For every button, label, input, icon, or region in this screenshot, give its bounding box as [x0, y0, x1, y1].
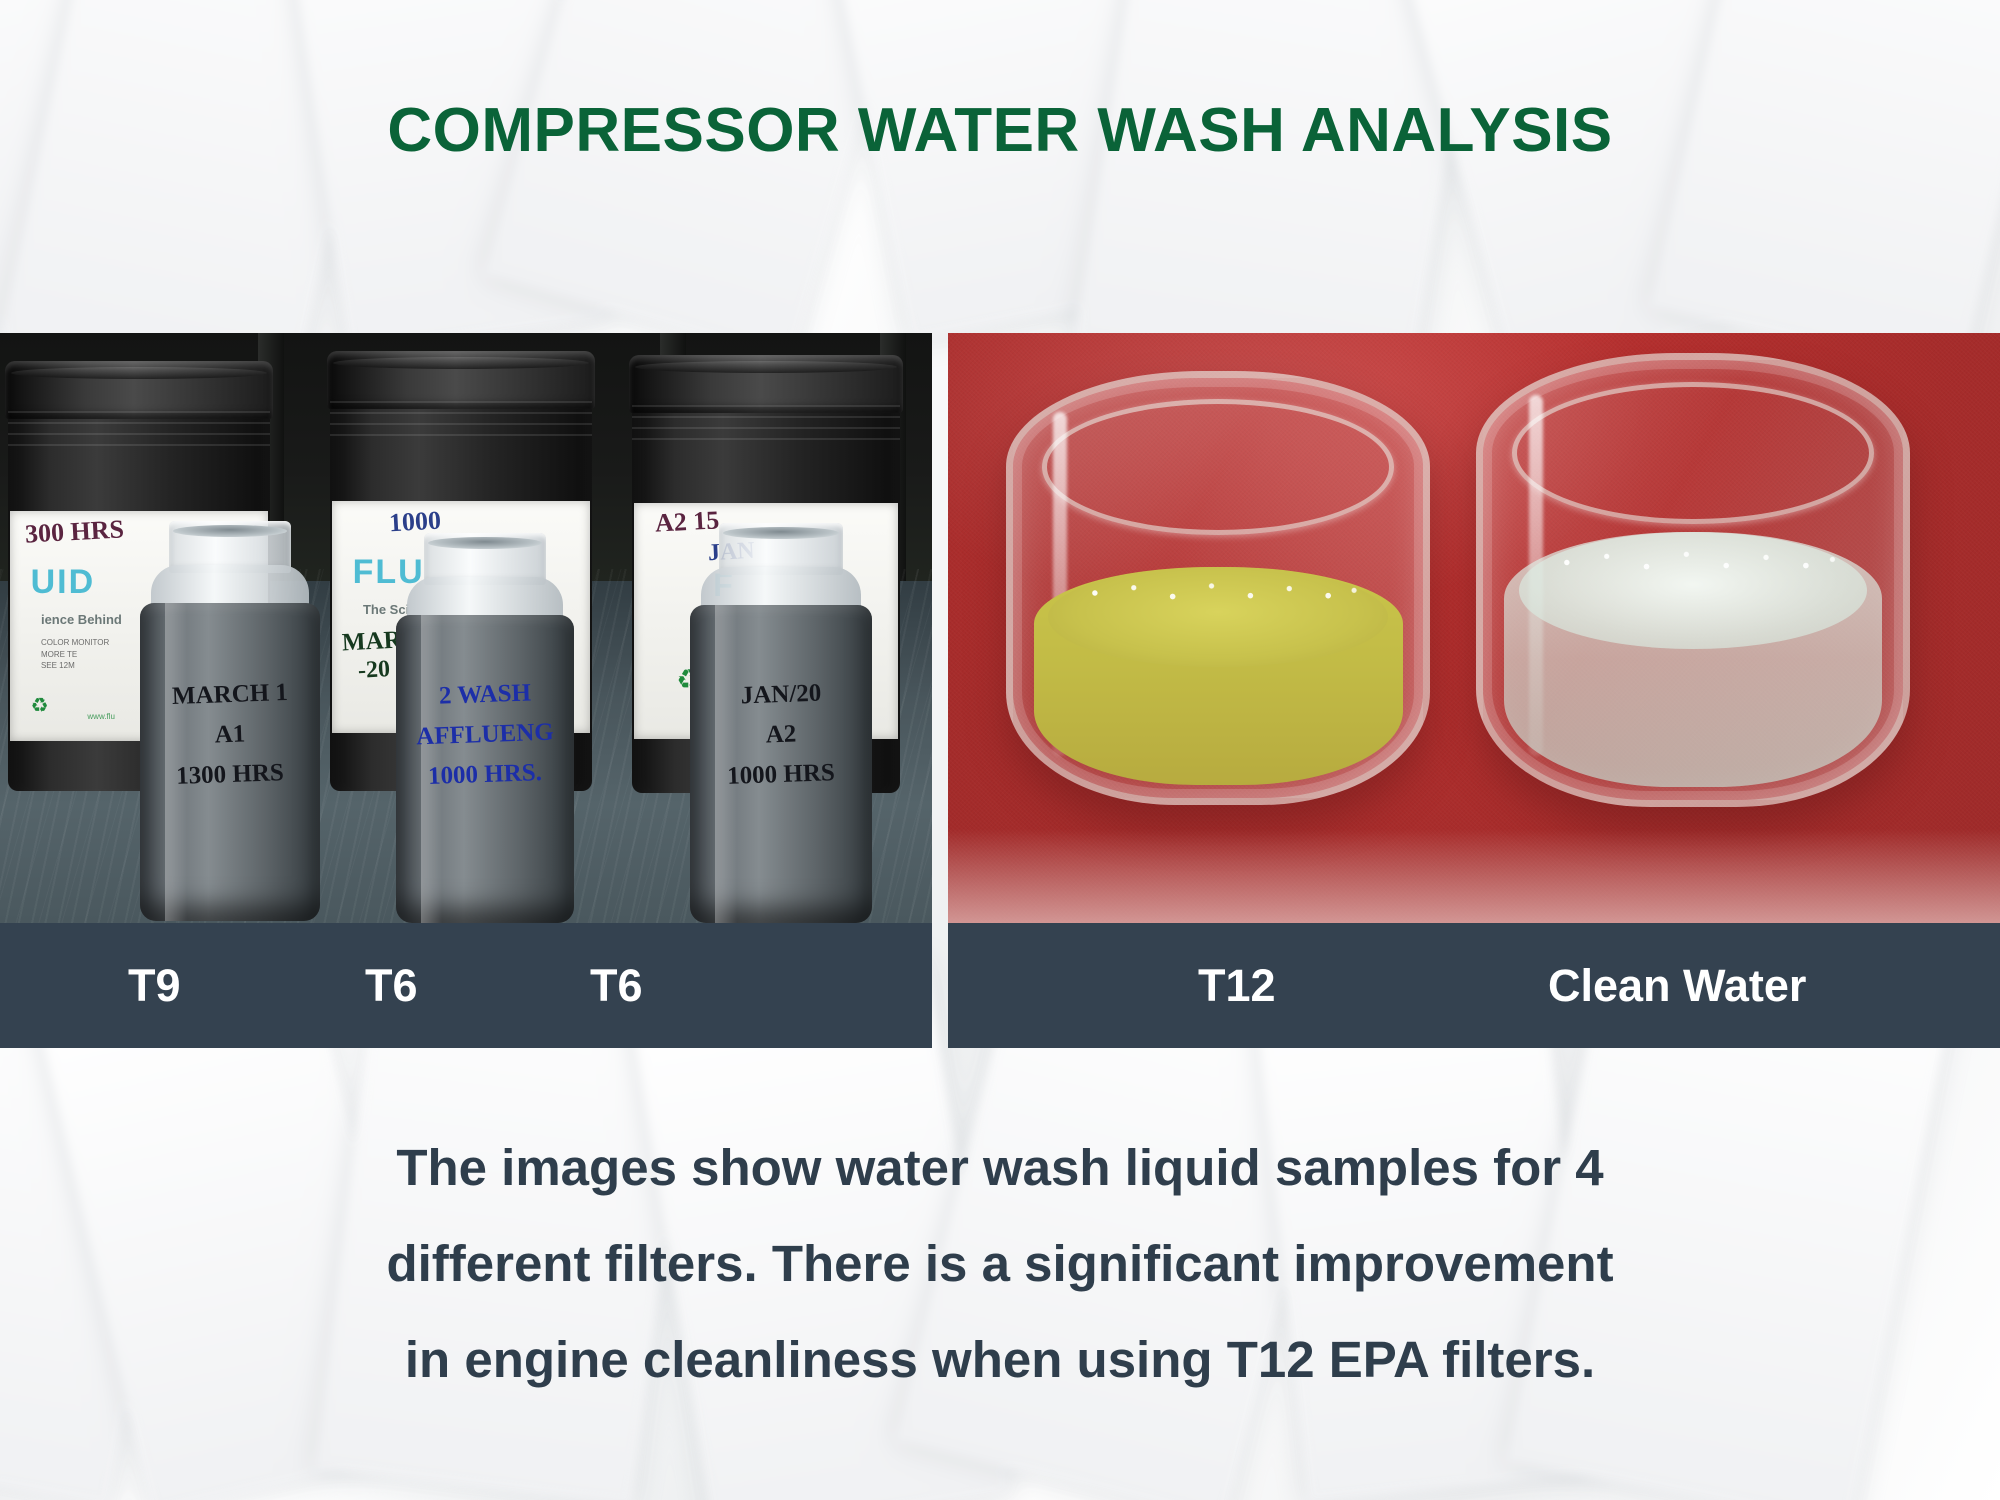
slide-root: COMPRESSOR WATER WASH ANALYSIS 300 HRS U…	[0, 0, 2000, 1500]
clean-water-liquid	[1504, 532, 1882, 787]
sample-bottle: 2 WASH AFFLUENG 1000 HRS.	[396, 533, 574, 923]
sample-bottle: MARCH 1 A1 1300 HRS	[140, 521, 320, 921]
page-title: COMPRESSOR WATER WASH ANALYSIS	[0, 95, 2000, 166]
recycle-icon: ♻	[31, 693, 49, 718]
caption-line-1: The images show water wash liquid sample…	[0, 1120, 2000, 1216]
right-panel: T12 Clean Water	[948, 333, 2000, 1048]
t12-sample-glass	[1006, 371, 1430, 805]
bottle-hand-line: JAN/20	[690, 678, 872, 712]
caption-clean-water: Clean Water	[1548, 960, 1806, 1012]
left-panel: 300 HRS UID ience Behind COLOR MONITORMO…	[0, 333, 932, 1048]
caption-t9: T9	[128, 960, 181, 1012]
caption-t12: T12	[1198, 960, 1276, 1012]
bottom-caption: The images show water wash liquid sample…	[0, 1120, 2000, 1408]
bottle-hand-line: A2	[690, 718, 872, 752]
clean-water-glass	[1476, 353, 1910, 807]
caption-t6-b: T6	[590, 960, 643, 1012]
t12-vs-clean-water-photo	[948, 333, 2000, 923]
bottle-hand-line: AFFLUENG	[396, 718, 574, 752]
caption-t6-a: T6	[365, 960, 418, 1012]
right-caption-bar: T12 Clean Water	[948, 923, 2000, 1048]
sample-bottle: JAN/20 A2 1000 HRS	[690, 523, 872, 923]
yellow-sample-liquid	[1034, 567, 1403, 785]
red-table-scene	[948, 333, 2000, 923]
left-caption-bar: T9 T6 T6	[0, 923, 932, 1048]
bottle-hand-line: MARCH 1	[140, 678, 320, 712]
bottle-hand-line: 2 WASH	[396, 678, 574, 712]
bottle-hand-line: A1	[140, 718, 320, 752]
caption-line-2: different filters. There is a significan…	[0, 1216, 2000, 1312]
jar-brand-label: UID	[31, 563, 96, 602]
lab-shelf-scene: 300 HRS UID ience Behind COLOR MONITORMO…	[0, 333, 932, 923]
bottle-hand-line: 1000 HRS.	[396, 758, 574, 792]
caption-line-3: in engine cleanliness when using T12 EPA…	[0, 1312, 2000, 1408]
jar-hand-label: 300 HRS	[25, 514, 125, 549]
used-filter-samples-photo: 300 HRS UID ience Behind COLOR MONITORMO…	[0, 333, 932, 923]
bottle-hand-line: 1000 HRS	[690, 758, 872, 792]
jar-tagline: ience Behind	[41, 611, 122, 630]
bottle-hand-line: 1300 HRS	[140, 758, 320, 792]
